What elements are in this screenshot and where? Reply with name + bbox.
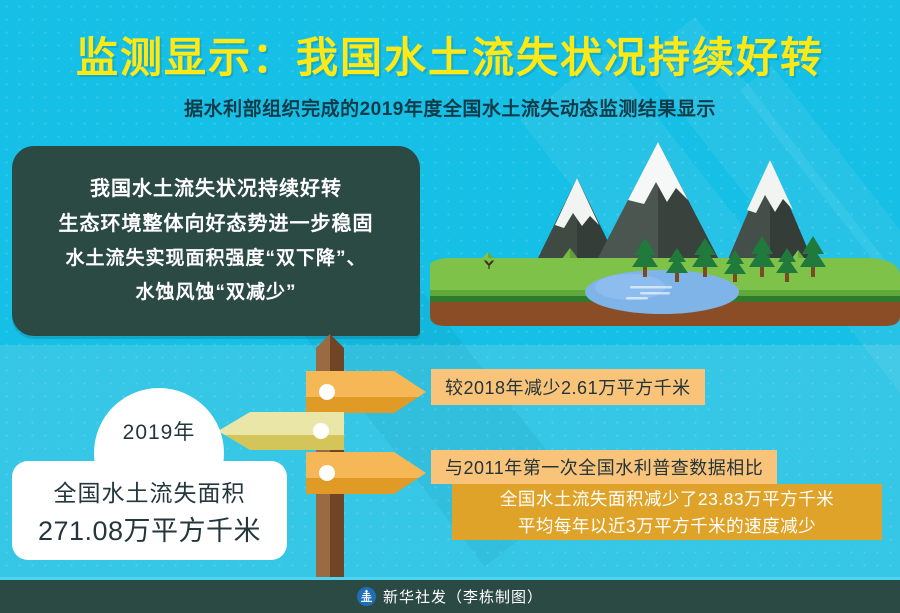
sign-2011-comparison[interactable]	[306, 452, 426, 494]
mountain-landscape-illustration	[430, 140, 900, 340]
xinhua-logo-icon	[357, 587, 376, 606]
fact-bar-2018: 较2018年减少2.61万平方千米	[431, 369, 705, 405]
footer: 新华社发（李栋制图）	[0, 580, 900, 613]
summary-metric-value: 271.08万平方千米	[38, 509, 261, 548]
summary-value-card: 全国水土流失面积 271.08万平方千米	[12, 461, 287, 560]
sign-2018-comparison[interactable]	[306, 371, 426, 413]
fact-bar-detail-line-1: 全国水土流失面积减少了23.83万平方千米	[500, 486, 834, 511]
footer-credit: 新华社发（李栋制图）	[383, 586, 543, 607]
callout-line-2: 生态环境整体向好态势进一步稳固	[59, 212, 374, 237]
summary-metric-label: 全国水土流失面积	[54, 474, 246, 508]
sign-2019-summary[interactable]	[218, 412, 344, 450]
callout-line-3: 水土流失实现面积强度“双下降”、	[65, 247, 366, 271]
callout-line-4: 水蚀风蚀“双减少”	[135, 281, 296, 305]
page-title: 监测显示：我国水土流失状况持续好转	[0, 24, 900, 85]
key-findings-callout: 我国水土流失状况持续好转 生态环境整体向好态势进一步稳固 水土流失实现面积强度“…	[12, 146, 420, 336]
callout-line-1: 我国水土流失状况持续好转	[90, 177, 342, 202]
sign-bolt-dot	[319, 465, 335, 481]
fact-bar-detail-line-2: 平均每年以近3万平方千米的速度减少	[518, 513, 816, 538]
fact-bar-2011-detail: 全国水土流失面积减少了23.83万平方千米 平均每年以近3万平方千米的速度减少	[452, 484, 882, 540]
fact-bar-2011: 与2011年第一次全国水利普查数据相比	[431, 450, 777, 484]
summary-year-label: 2019年	[123, 416, 196, 446]
sign-bolt-dot	[319, 384, 335, 400]
page-subtitle: 据水利部组织完成的2019年度全国水土流失动态监测结果显示	[0, 94, 900, 121]
sign-bolt-dot	[313, 423, 329, 439]
